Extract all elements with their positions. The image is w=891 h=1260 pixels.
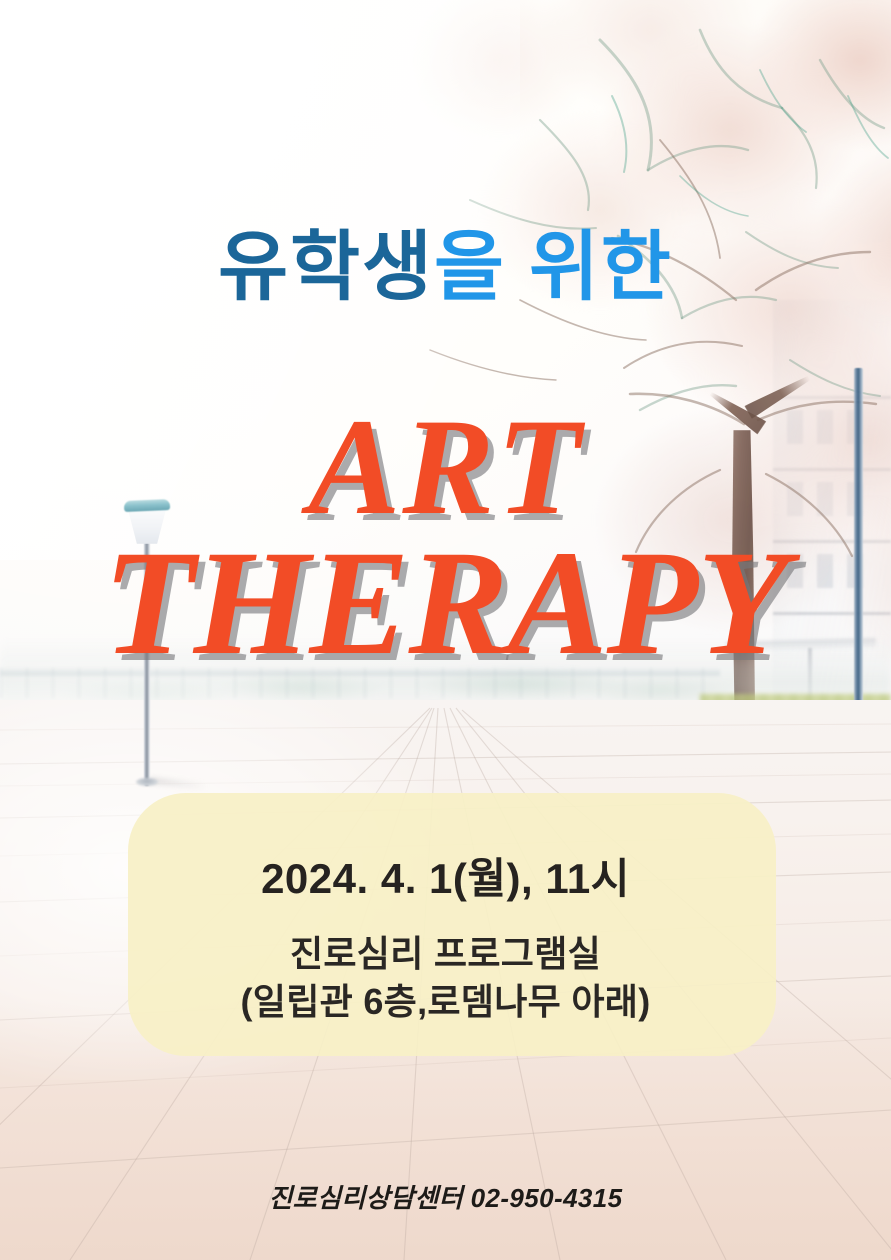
title-line-therapy: THERAPY bbox=[0, 528, 891, 678]
poster-canvas: 유학생을 위한 ART THERAPY 2024. 4. 1(월), 11시 진… bbox=[0, 0, 891, 1260]
event-location-line-1: 진로심리 프로그램실 bbox=[0, 930, 891, 978]
event-location: 진로심리 프로그램실 (일립관 6층,로뎀나무 아래) bbox=[0, 930, 891, 1026]
event-date-time: 2024. 4. 1(월), 11시 bbox=[0, 845, 891, 906]
event-location-line-2: (일립관 6층,로뎀나무 아래) bbox=[0, 978, 891, 1026]
headline-light-segment: 을 위한 bbox=[434, 225, 673, 310]
korean-headline: 유학생을 위한 bbox=[0, 228, 891, 308]
footer-contact: 진로심리상담센터 02-950-4315 bbox=[0, 1178, 891, 1215]
title-line-art: ART bbox=[0, 398, 891, 536]
street-lamp-base bbox=[136, 778, 158, 786]
headline-dark-segment: 유학생 bbox=[218, 225, 434, 310]
